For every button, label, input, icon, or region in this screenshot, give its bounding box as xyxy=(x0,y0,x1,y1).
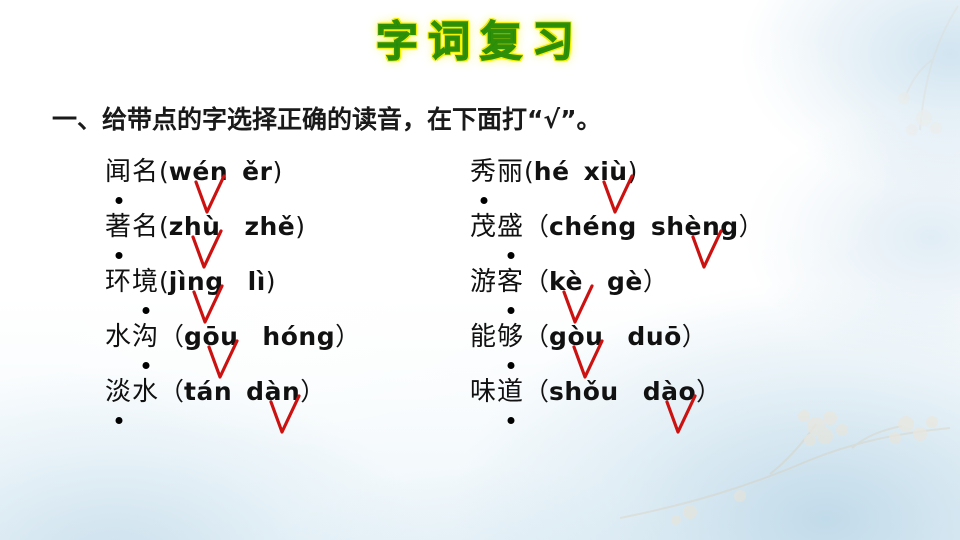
question-word: 环境 xyxy=(105,267,159,297)
question-word: 闻名 xyxy=(105,157,159,187)
question-row: 著名(zhùzhě)茂盛（chéngshèng） xyxy=(0,207,960,262)
dotted-character: 淡 xyxy=(105,372,132,412)
pinyin-option[interactable]: shèng xyxy=(651,207,739,247)
question-row: 淡水（tándàn）味道（shǒudào） xyxy=(0,372,960,427)
dotted-character: 秀 xyxy=(470,152,497,192)
open-paren: ( xyxy=(159,267,169,296)
pinyin-option[interactable]: hóng xyxy=(262,317,335,357)
pinyin-option[interactable]: dào xyxy=(643,372,696,412)
open-paren: （ xyxy=(524,322,549,351)
question-item[interactable]: 环境(jìnglì) xyxy=(105,262,276,302)
question-row: 环境(jìnglì)游客（kègè） xyxy=(0,262,960,317)
question-item[interactable]: 能够（gòuduō） xyxy=(470,317,707,357)
page-title: 字词复习 xyxy=(376,8,584,69)
pinyin-option[interactable]: xiù xyxy=(584,152,628,192)
open-paren: （ xyxy=(159,377,184,406)
open-paren: （ xyxy=(524,377,549,406)
close-paren: ) xyxy=(266,267,276,296)
question-item[interactable]: 茂盛（chéngshèng） xyxy=(470,207,764,247)
question-item[interactable]: 水沟（gōuhóng） xyxy=(105,317,360,357)
dotted-character: 沟 xyxy=(132,317,159,357)
character: 名 xyxy=(132,207,159,247)
close-paren: ） xyxy=(643,267,668,296)
pinyin-option[interactable]: gè xyxy=(607,262,643,302)
dotted-character: 盛 xyxy=(497,207,524,247)
open-paren: （ xyxy=(159,322,184,351)
open-paren: ( xyxy=(159,212,169,241)
open-paren: ( xyxy=(159,157,169,186)
pinyin-option[interactable]: chéng xyxy=(549,207,637,247)
pinyin-option[interactable]: zhě xyxy=(244,207,295,247)
close-paren: ） xyxy=(335,322,360,351)
pinyin-option[interactable]: zhù xyxy=(169,207,221,247)
pinyin-option[interactable]: lì xyxy=(248,262,266,302)
question-item[interactable]: 淡水（tándàn） xyxy=(105,372,325,412)
dotted-character: 客 xyxy=(497,262,524,302)
close-paren: ） xyxy=(696,377,721,406)
pinyin-option[interactable]: jìng xyxy=(169,262,224,302)
close-paren: ） xyxy=(300,377,325,406)
character: 水 xyxy=(105,317,132,357)
question-word: 著名 xyxy=(105,212,159,242)
pinyin-option[interactable]: gòu xyxy=(549,317,603,357)
character: 能 xyxy=(470,317,497,357)
question-word: 茂盛 xyxy=(470,212,524,242)
dotted-character: 道 xyxy=(497,372,524,412)
close-paren: ) xyxy=(628,157,638,186)
dotted-character: 境 xyxy=(132,262,159,302)
close-paren: ） xyxy=(739,212,764,241)
question-item[interactable]: 游客（kègè） xyxy=(470,262,668,302)
question-grid: 闻名(wéněr)秀丽(héxiù)著名(zhùzhě)茂盛（chéngshèn… xyxy=(0,152,960,427)
dotted-character: 著 xyxy=(105,207,132,247)
dotted-character: 够 xyxy=(497,317,524,357)
pinyin-option[interactable]: dàn xyxy=(246,372,300,412)
slide-canvas: 字词复习 一、给带点的字选择正确的读音，在下面打“√”。 闻名(wéněr)秀丽… xyxy=(0,0,960,540)
character: 环 xyxy=(105,262,132,302)
question-word: 能够 xyxy=(470,322,524,352)
open-paren: （ xyxy=(524,267,549,296)
close-paren: ） xyxy=(682,322,707,351)
question-word: 游客 xyxy=(470,267,524,297)
character: 游 xyxy=(470,262,497,302)
question-row: 闻名(wéněr)秀丽(héxiù) xyxy=(0,152,960,207)
question-word: 淡水 xyxy=(105,377,159,407)
pinyin-option[interactable]: gōu xyxy=(184,317,238,357)
pinyin-option[interactable]: kè xyxy=(549,262,583,302)
pinyin-option[interactable]: shǒu xyxy=(549,372,619,412)
question-item[interactable]: 闻名(wéněr) xyxy=(105,152,282,192)
slide-title-container: 字词复习 xyxy=(0,8,960,69)
character: 味 xyxy=(470,372,497,412)
question-row: 水沟（gōuhóng）能够（gòuduō） xyxy=(0,317,960,372)
question-item[interactable]: 味道（shǒudào） xyxy=(470,372,721,412)
dotted-character: 闻 xyxy=(105,152,132,192)
question-item[interactable]: 著名(zhùzhě) xyxy=(105,207,305,247)
open-paren: （ xyxy=(524,212,549,241)
open-paren: ( xyxy=(524,157,534,186)
question-item[interactable]: 秀丽(héxiù) xyxy=(470,152,637,192)
pinyin-option[interactable]: tán xyxy=(184,372,232,412)
pinyin-option[interactable]: ěr xyxy=(242,152,272,192)
character: 名 xyxy=(132,152,159,192)
character: 水 xyxy=(132,372,159,412)
pinyin-option[interactable]: wén xyxy=(169,152,228,192)
pinyin-option[interactable]: hé xyxy=(534,152,570,192)
pinyin-option[interactable]: duō xyxy=(627,317,681,357)
question-word: 秀丽 xyxy=(470,157,524,187)
character: 茂 xyxy=(470,207,497,247)
check-mark-icon xyxy=(269,402,303,438)
exercise-heading: 一、给带点的字选择正确的读音，在下面打“√”。 xyxy=(52,100,602,136)
close-paren: ) xyxy=(295,212,305,241)
question-word: 水沟 xyxy=(105,322,159,352)
close-paren: ) xyxy=(272,157,282,186)
question-word: 味道 xyxy=(470,377,524,407)
character: 丽 xyxy=(497,152,524,192)
